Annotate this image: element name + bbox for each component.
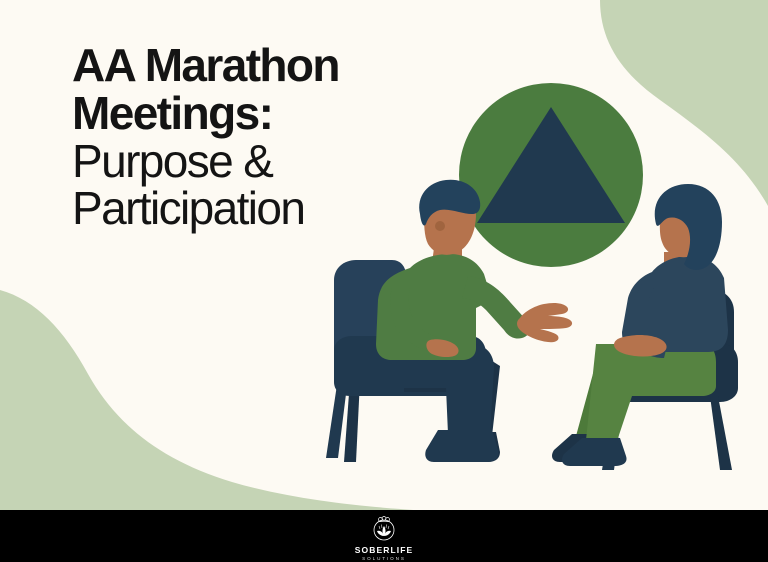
footer-brand-bar: SOBERLIFE SOLUTIONS (0, 510, 768, 562)
brand-logo: SOBERLIFE SOLUTIONS (324, 514, 444, 561)
chair-right-leg-back (710, 396, 732, 470)
title-line-4: Participation (72, 185, 432, 233)
figure-right-seated-woman (552, 184, 738, 470)
page-title: AA Marathon Meetings: Purpose & Particip… (72, 42, 432, 233)
brand-name: SOBERLIFE (324, 545, 444, 555)
poster-canvas: AA Marathon Meetings: Purpose & Particip… (0, 0, 768, 562)
title-line-3: Purpose & (72, 138, 432, 186)
title-line-1: AA Marathon (72, 42, 432, 90)
brand-tagline: SOLUTIONS (324, 556, 444, 561)
left-man-ear (435, 221, 445, 231)
left-man-near-shoe (425, 430, 498, 462)
title-line-2: Meetings: (72, 90, 432, 138)
right-woman-near-leg (586, 344, 716, 444)
lotus-hands-circle-icon (369, 514, 399, 544)
